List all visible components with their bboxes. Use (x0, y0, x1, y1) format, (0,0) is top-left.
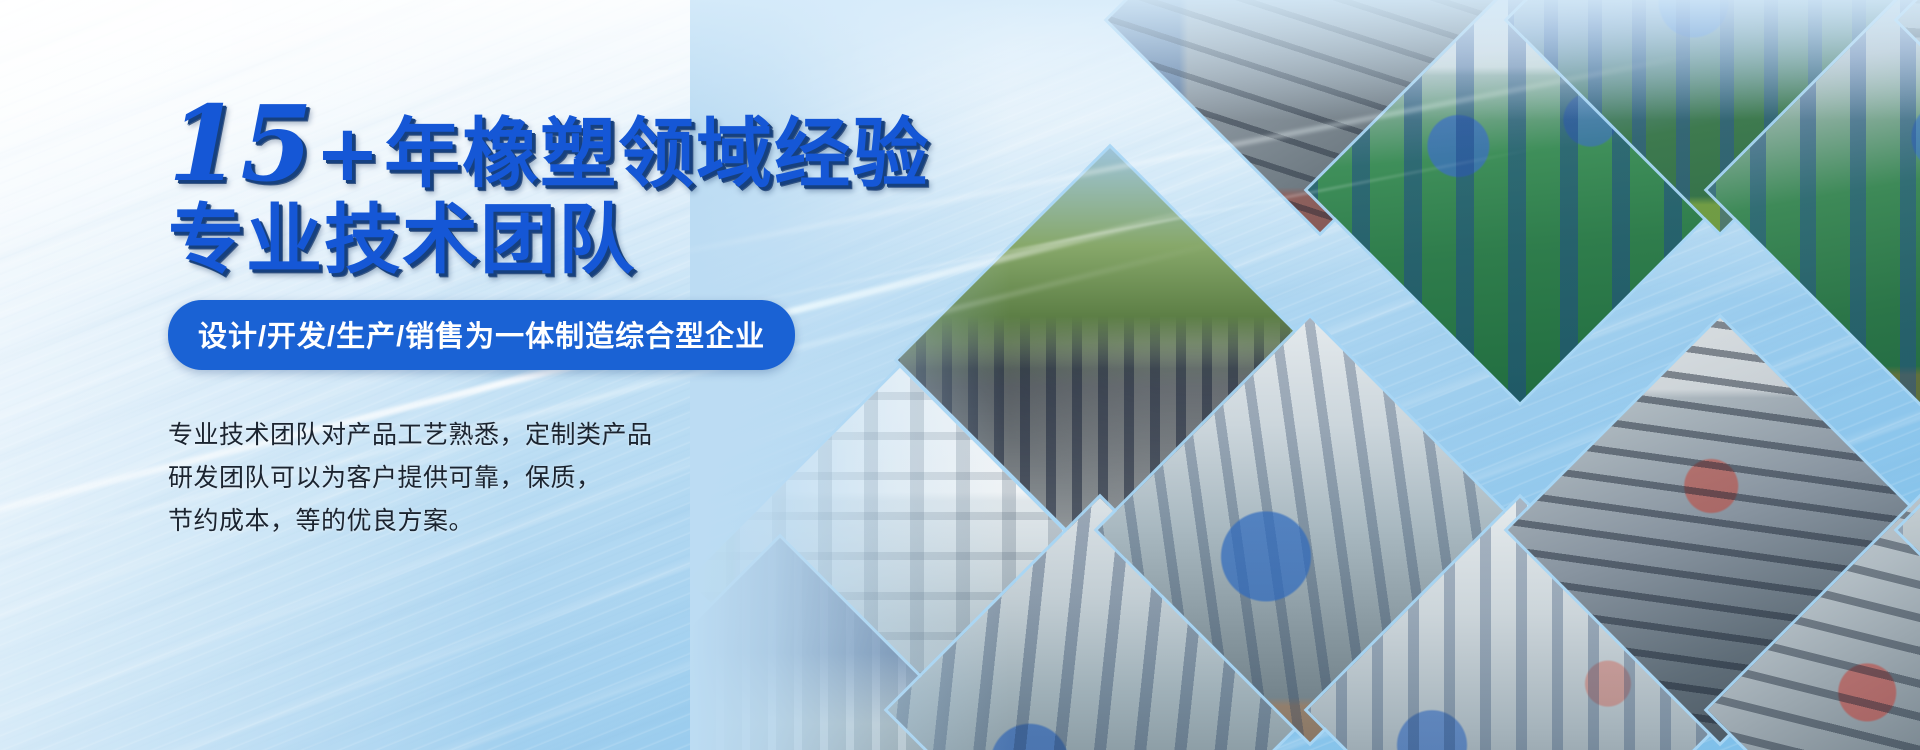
banner-copy-block: 15+年橡塑领域经验 专业技术团队 设计/开发/生产/销售为一体制造综合型企业 … (168, 92, 948, 543)
headline-line-1-text: 年橡塑领域经验 (384, 116, 930, 192)
description-paragraph: 专业技术团队对产品工艺熟悉，定制类产品 研发团队可以为客户提供可靠，保质， 节约… (168, 414, 948, 543)
hero-banner: 15+年橡塑领域经验 专业技术团队 设计/开发/生产/销售为一体制造综合型企业 … (0, 0, 1920, 750)
headline-years-number: 15 (168, 92, 313, 196)
description-line-2: 研发团队可以为客户提供可靠，保质， (168, 457, 948, 500)
description-line-3: 节约成本，等的优良方案。 (168, 500, 948, 543)
headline-line-1: 15+年橡塑领域经验 (168, 92, 948, 196)
headline-line-2: 专业技术团队 (168, 202, 948, 278)
tagline-badge: 设计/开发/生产/销售为一体制造综合型企业 (168, 300, 795, 370)
description-line-1: 专业技术团队对产品工艺熟悉，定制类产品 (168, 414, 948, 457)
headline-plus-sign: + (315, 115, 382, 193)
